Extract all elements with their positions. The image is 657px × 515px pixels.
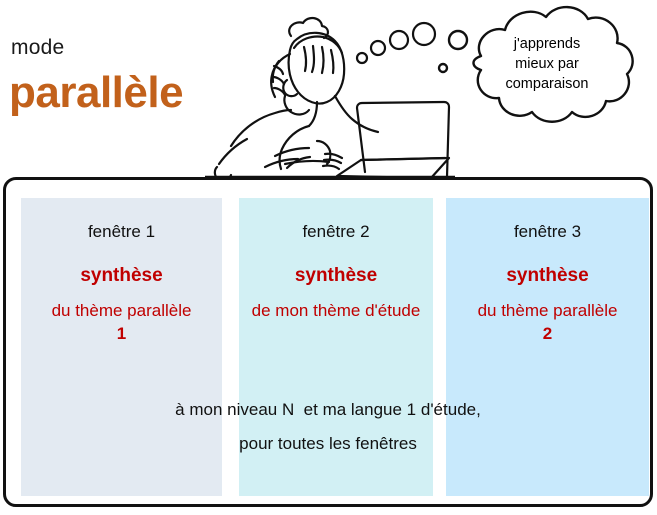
page-title: parallèle bbox=[9, 68, 183, 118]
person-studying-at-laptop-icon bbox=[205, 4, 455, 179]
synthese-description-3: du thème parallèle 2 bbox=[446, 299, 649, 345]
synthese-heading-3: synthèse bbox=[446, 265, 649, 287]
window-label-2: fenêtre 2 bbox=[239, 222, 433, 242]
header-area: mode parallèle bbox=[0, 0, 657, 177]
mode-label: mode bbox=[11, 36, 64, 60]
thought-bubble: j'apprends mieux par comparaison bbox=[437, 4, 657, 154]
synthese-emphasis-1: 1 bbox=[25, 322, 218, 345]
window-column-2: fenêtre 2 synthèse de mon thème d'étude bbox=[239, 198, 433, 496]
synthese-description-text-3: du thème parallèle bbox=[478, 301, 618, 320]
thought-bubble-line-2: mieux par bbox=[482, 54, 612, 74]
parallel-mode-frame: fenêtre 1 synthèse du thème parallèle 1 … bbox=[3, 177, 653, 507]
synthese-description-text-1: du thème parallèle bbox=[52, 301, 192, 320]
thought-bubble-line-1: j'apprends bbox=[482, 34, 612, 54]
synthese-description-1: du thème parallèle 1 bbox=[21, 299, 222, 345]
thought-bubble-text: j'apprends mieux par comparaison bbox=[482, 34, 612, 94]
window-column-3: fenêtre 3 synthèse du thème parallèle 2 bbox=[446, 198, 649, 496]
synthese-description-text-2: de mon thème d'étude bbox=[252, 301, 421, 320]
synthese-heading-1: synthèse bbox=[21, 265, 222, 287]
synthese-description-2: de mon thème d'étude bbox=[239, 299, 433, 322]
thought-bubble-line-3: comparaison bbox=[482, 74, 612, 94]
synthese-heading-2: synthèse bbox=[239, 265, 433, 287]
window-label-1: fenêtre 1 bbox=[21, 222, 222, 242]
window-column-1: fenêtre 1 synthèse du thème parallèle 1 bbox=[21, 198, 222, 496]
synthese-emphasis-3: 2 bbox=[450, 322, 645, 345]
window-label-3: fenêtre 3 bbox=[446, 222, 649, 242]
